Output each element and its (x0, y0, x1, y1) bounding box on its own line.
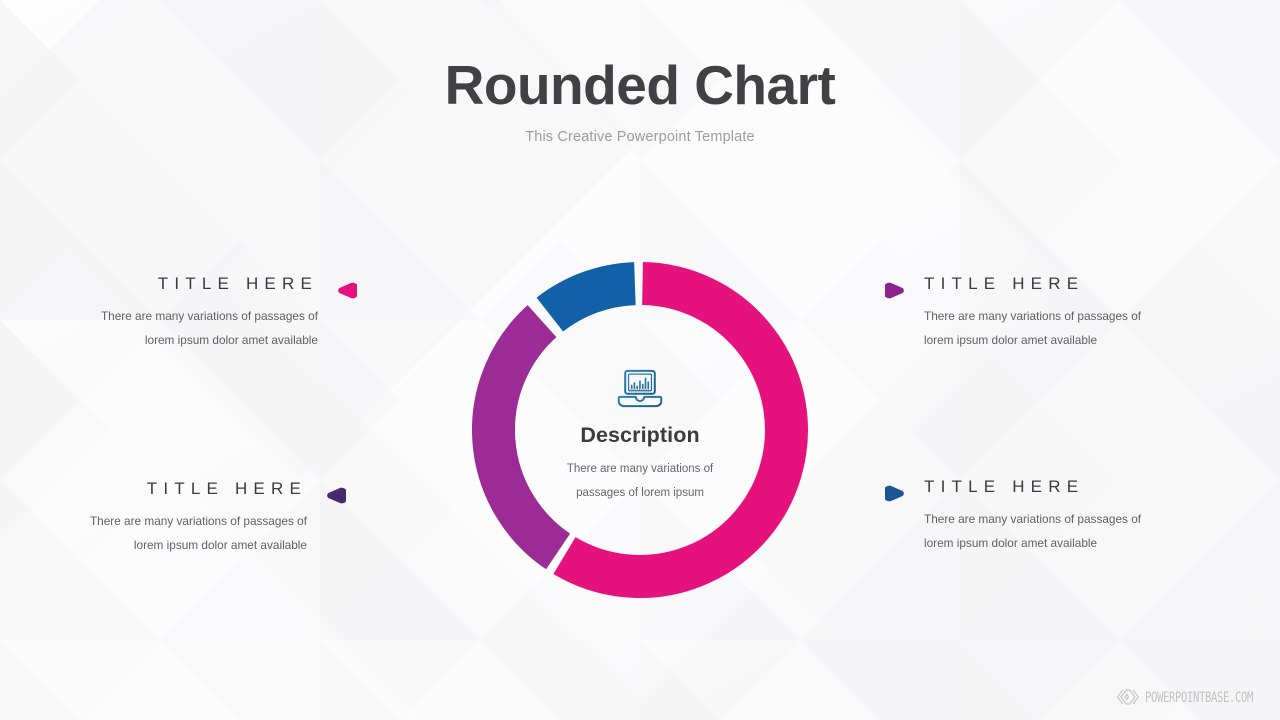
label-top-left-title: TITLE HERE (78, 274, 318, 294)
label-top-left-description-line-2: lorem ipsum dolor amet available (78, 329, 318, 353)
label-top-right[interactable]: TITLE HERE There are many variations of … (885, 274, 1164, 352)
donut-center-description-line-1: There are many variations of (545, 458, 735, 482)
label-top-left-text: TITLE HERE There are many variations of … (78, 274, 318, 352)
triangle-right-icon[interactable] (885, 278, 910, 303)
label-bottom-left[interactable]: TITLE HERE There are many variations of … (67, 479, 346, 557)
triangle-left-icon[interactable] (332, 278, 357, 303)
triangle-right-icon[interactable] (885, 481, 910, 506)
page-subtitle: This Creative Powerpoint Template (0, 129, 1280, 145)
label-bottom-left-description: There are many variations of passages of… (67, 510, 307, 557)
label-bottom-right-description-line-2: lorem ipsum dolor amet available (924, 532, 1164, 556)
label-top-right-description-line-1: There are many variations of passages of (924, 305, 1164, 329)
donut-center-title: Description (580, 423, 699, 448)
laptop-chart-icon (617, 368, 663, 410)
label-bottom-right-title: TITLE HERE (924, 477, 1164, 497)
label-bottom-left-title: TITLE HERE (67, 479, 307, 499)
watermark-text: POWERPOINTBASE.COM (1145, 688, 1253, 706)
label-top-right-title: TITLE HERE (924, 274, 1164, 294)
label-top-right-description-line-2: lorem ipsum dolor amet available (924, 329, 1164, 353)
label-top-left-description-line-1: There are many variations of passages of (78, 305, 318, 329)
triangle-left-icon[interactable] (321, 483, 346, 508)
label-bottom-right-text: TITLE HERE There are many variations of … (924, 477, 1164, 555)
donut-center-description-line-2: passages of lorem ipsum (545, 482, 735, 506)
label-bottom-right-description-line-1: There are many variations of passages of (924, 508, 1164, 532)
label-bottom-left-description-line-1: There are many variations of passages of (67, 510, 307, 534)
donut-center-description: There are many variations of passages of… (545, 458, 735, 505)
label-bottom-left-text: TITLE HERE There are many variations of … (67, 479, 307, 557)
slide-stage: Rounded Chart This Creative Powerpoint T… (0, 0, 1280, 720)
label-top-right-text: TITLE HERE There are many variations of … (924, 274, 1164, 352)
label-top-left-description: There are many variations of passages of… (78, 305, 318, 352)
label-top-right-description: There are many variations of passages of… (924, 305, 1164, 352)
label-bottom-left-description-line-2: lorem ipsum dolor amet available (67, 534, 307, 558)
nested-diamond-logo-icon (1116, 688, 1140, 706)
slide-header: Rounded Chart This Creative Powerpoint T… (0, 57, 1280, 145)
label-bottom-right-description: There are many variations of passages of… (924, 508, 1164, 555)
label-top-left[interactable]: TITLE HERE There are many variations of … (78, 274, 357, 352)
label-bottom-right[interactable]: TITLE HERE There are many variations of … (885, 477, 1164, 555)
page-title: Rounded Chart (0, 57, 1280, 115)
donut-center-content: Description There are many variations of… (461, 251, 819, 609)
donut-chart: Description There are many variations of… (461, 251, 819, 609)
watermark: POWERPOINTBASE.COM (1116, 688, 1262, 706)
